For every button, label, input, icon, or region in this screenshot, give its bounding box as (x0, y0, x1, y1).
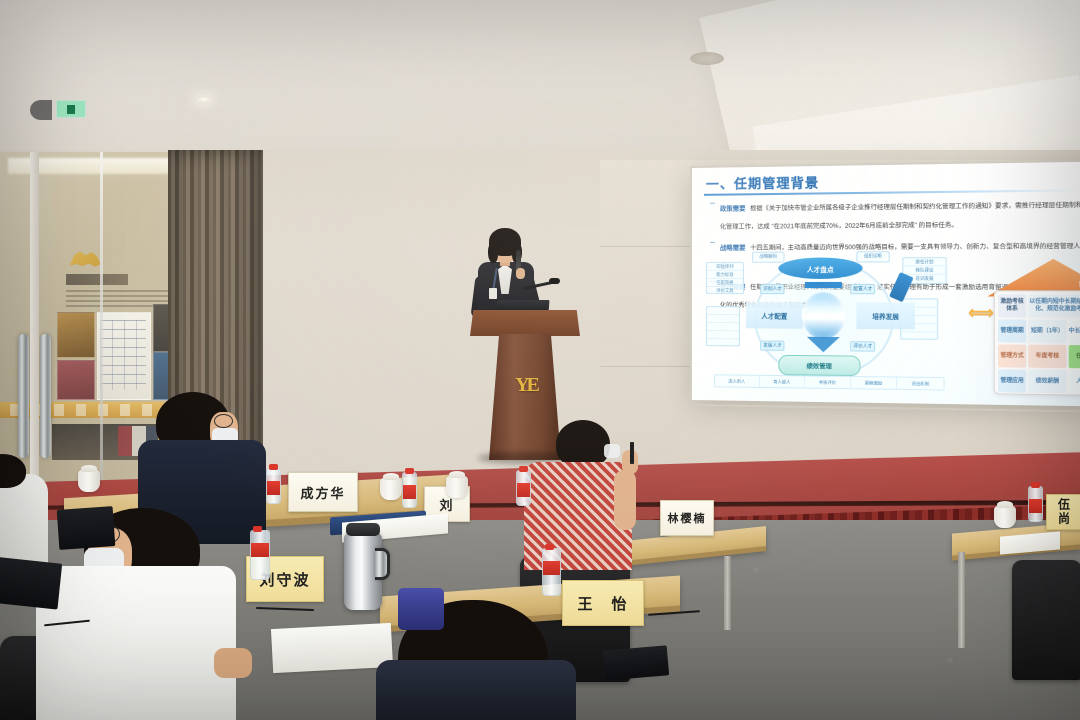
row-label: 管理周期 (998, 319, 1026, 342)
roof-line-1: 战略目标 (1026, 273, 1080, 281)
laptop[interactable] (57, 506, 116, 550)
door-handle[interactable] (40, 334, 51, 458)
water-bottle (250, 530, 270, 580)
nameplate: 成方华 (288, 472, 358, 512)
diagram-box-label (707, 323, 739, 331)
bag-item (398, 588, 444, 630)
nameplate: 林樱楠 (660, 500, 714, 536)
diagram-top-box: 战略解码 (752, 252, 784, 263)
diagram-box-label (707, 315, 739, 323)
diagram-box-label: 梯队建设 (903, 266, 945, 274)
tea-cup (994, 506, 1016, 528)
diagram-top-bar (805, 282, 842, 288)
diagram-box-label (901, 332, 937, 339)
attendee-hand (214, 648, 252, 678)
water-bottle (402, 472, 417, 508)
row-cell: 中长期（3年） (1069, 320, 1080, 343)
diagram-node-bottom: 绩效管理 (778, 355, 860, 376)
diagram-top-box: 组织诊断 (856, 251, 889, 262)
glass-door-mullion (100, 152, 103, 482)
diagram-box-label: 继任计划 (903, 258, 945, 266)
talent-cycle-diagram: 岗位序列 能力标准 任职资格 评价工具 战略解码 组织诊断 (706, 253, 964, 388)
diagram-tag: 配置人才 (850, 284, 875, 294)
table-row: 管理应用 绩效薪酬 人才发展 (998, 369, 1080, 394)
notepad (271, 623, 393, 673)
tea-cup (380, 478, 402, 500)
diagram-left-box-group-2 (706, 306, 740, 346)
table-leg (724, 556, 731, 630)
downlight-icon (196, 96, 212, 103)
diagram-tag: 评价人才 (850, 341, 875, 351)
water-bottle (516, 470, 531, 506)
slide-title: 一、任期管理背景 (706, 172, 819, 193)
diagram-box-label (707, 307, 739, 315)
diagram-box-label: 任职资格 (707, 279, 743, 287)
chair[interactable] (1012, 560, 1080, 680)
vacuum-flask (344, 532, 382, 610)
face-mask (604, 444, 620, 458)
presenter-hand (516, 268, 525, 279)
attendee-hair (556, 420, 610, 468)
projection-screen: 一、任期管理背景 政策需要 根据《关于加快市管企业所属各级子企业推行经理层任期制… (692, 161, 1080, 406)
row-cell: 短期（1年） (1028, 320, 1066, 343)
nameplate: 伍尚 (1046, 494, 1080, 530)
diagram-box-label (707, 339, 739, 346)
diagram-box-label: 能力标准 (707, 271, 743, 279)
attendee-torso (36, 566, 236, 720)
door-handle[interactable] (18, 334, 29, 458)
house-body-table: 激励考核体系 以任期内短中长期结合的系统化、规范化激励考核体系 管理周期 短期（… (994, 290, 1080, 396)
diagram-core-sphere-icon (802, 292, 845, 339)
podium-logo: YE (511, 372, 541, 398)
conference-room-photo: 一、任期管理背景 政策需要 根据《关于加快市管企业所属各级子企业推行经理层任期制… (0, 0, 1080, 720)
diagram-box-label: 组织诊断 (857, 252, 888, 259)
presenter-hair-side (488, 243, 498, 263)
slide-bullet: 政策需要 根据《关于加快市管企业所属各级子企业推行经理层任期制和契约化管理工作的… (708, 193, 1080, 234)
security-camera-icon (30, 100, 52, 120)
diagram-box-label (707, 331, 739, 339)
strip-cell: 选人用人 (715, 375, 760, 387)
roof-line-2: 实现高质量发展 (1026, 281, 1080, 289)
tea-cup (446, 476, 468, 498)
strip-cell: 育人留人 (760, 376, 805, 388)
table-row: 管理方式 年度考核 任期考核 (998, 344, 1080, 368)
diagram-box-label: 岗位序列 (707, 263, 743, 271)
incentive-framework-house: 战略目标 实现高质量发展 激励考核体系 以任期内短中长期结合的系统化、规范化激励… (994, 259, 1080, 399)
double-arrow-icon: ⟺ (968, 305, 994, 322)
exit-sign-icon (56, 100, 86, 118)
diagram-down-arrow-icon (807, 337, 840, 353)
table-header-right: 以任期内短中长期结合的系统化、规范化激励考核体系 (1028, 294, 1080, 317)
diagram-node-right: 培养发展 (856, 302, 915, 329)
strip-cell: 退出机制 (897, 378, 943, 390)
pen (630, 442, 634, 464)
table-header-left: 激励考核体系 (998, 294, 1026, 317)
diagram-tag: 发展人才 (760, 341, 785, 351)
id-badge (489, 288, 497, 299)
row-cell: 人才发展 (1069, 370, 1080, 394)
tea-cup (78, 470, 100, 492)
table-row: 管理周期 短期（1年） 中长期（3年） (998, 319, 1080, 343)
bullet-key: 政策需要 (720, 205, 746, 212)
nameplate: 王 怡 (562, 580, 644, 626)
row-cell: 年度考核 (1028, 345, 1066, 368)
bullet-key: 战略需要 (720, 245, 746, 252)
row-cell: 绩效薪酬 (1028, 370, 1066, 394)
podium-top (470, 310, 580, 336)
ceiling-vent-icon (690, 52, 724, 65)
diagram-left-box-group: 岗位序列 能力标准 任职资格 评价工具 (706, 262, 744, 294)
water-bottle (266, 468, 281, 504)
diagram-tag: 识别人才 (760, 284, 785, 294)
table-row-header: 激励考核体系 以任期内短中长期结合的系统化、规范化激励考核体系 (998, 294, 1080, 317)
row-label: 管理方式 (998, 344, 1026, 367)
diagram-bottom-strip: 选人用人 育人留人 考核评价 薪酬激励 退出机制 (714, 374, 945, 390)
presentation-slide: 一、任期管理背景 政策需要 根据《关于加快市管企业所属各级子企业推行经理层任期制… (692, 161, 1080, 406)
water-bottle (1028, 486, 1043, 522)
laptop[interactable] (0, 556, 62, 609)
strip-cell: 薪酬激励 (851, 377, 897, 389)
diagram-node-top: 人才盘点 (778, 257, 862, 279)
attendee-torso (376, 660, 576, 720)
diagram-box-label: 评价工具 (707, 287, 743, 294)
bullet-text: 根据《关于加快市管企业所属各级子企业推行经理层任期制和契约化管理工作的通知》要求… (720, 202, 1080, 231)
diagram-node-left: 人才配置 (746, 302, 803, 329)
door-frame (30, 152, 39, 482)
strip-cell: 考核评价 (805, 376, 851, 388)
eyeglasses-icon (214, 414, 233, 428)
tablet-device[interactable] (603, 645, 669, 680)
attendee-arm (614, 470, 636, 530)
diagram-box-label: 战略解码 (753, 253, 783, 260)
house-roof-text: 战略目标 实现高质量发展 (1026, 273, 1080, 289)
microphone-head-icon (549, 278, 560, 284)
table-leg (958, 552, 965, 648)
row-cell: 任期考核 (1069, 345, 1080, 369)
row-label: 管理应用 (998, 369, 1026, 392)
